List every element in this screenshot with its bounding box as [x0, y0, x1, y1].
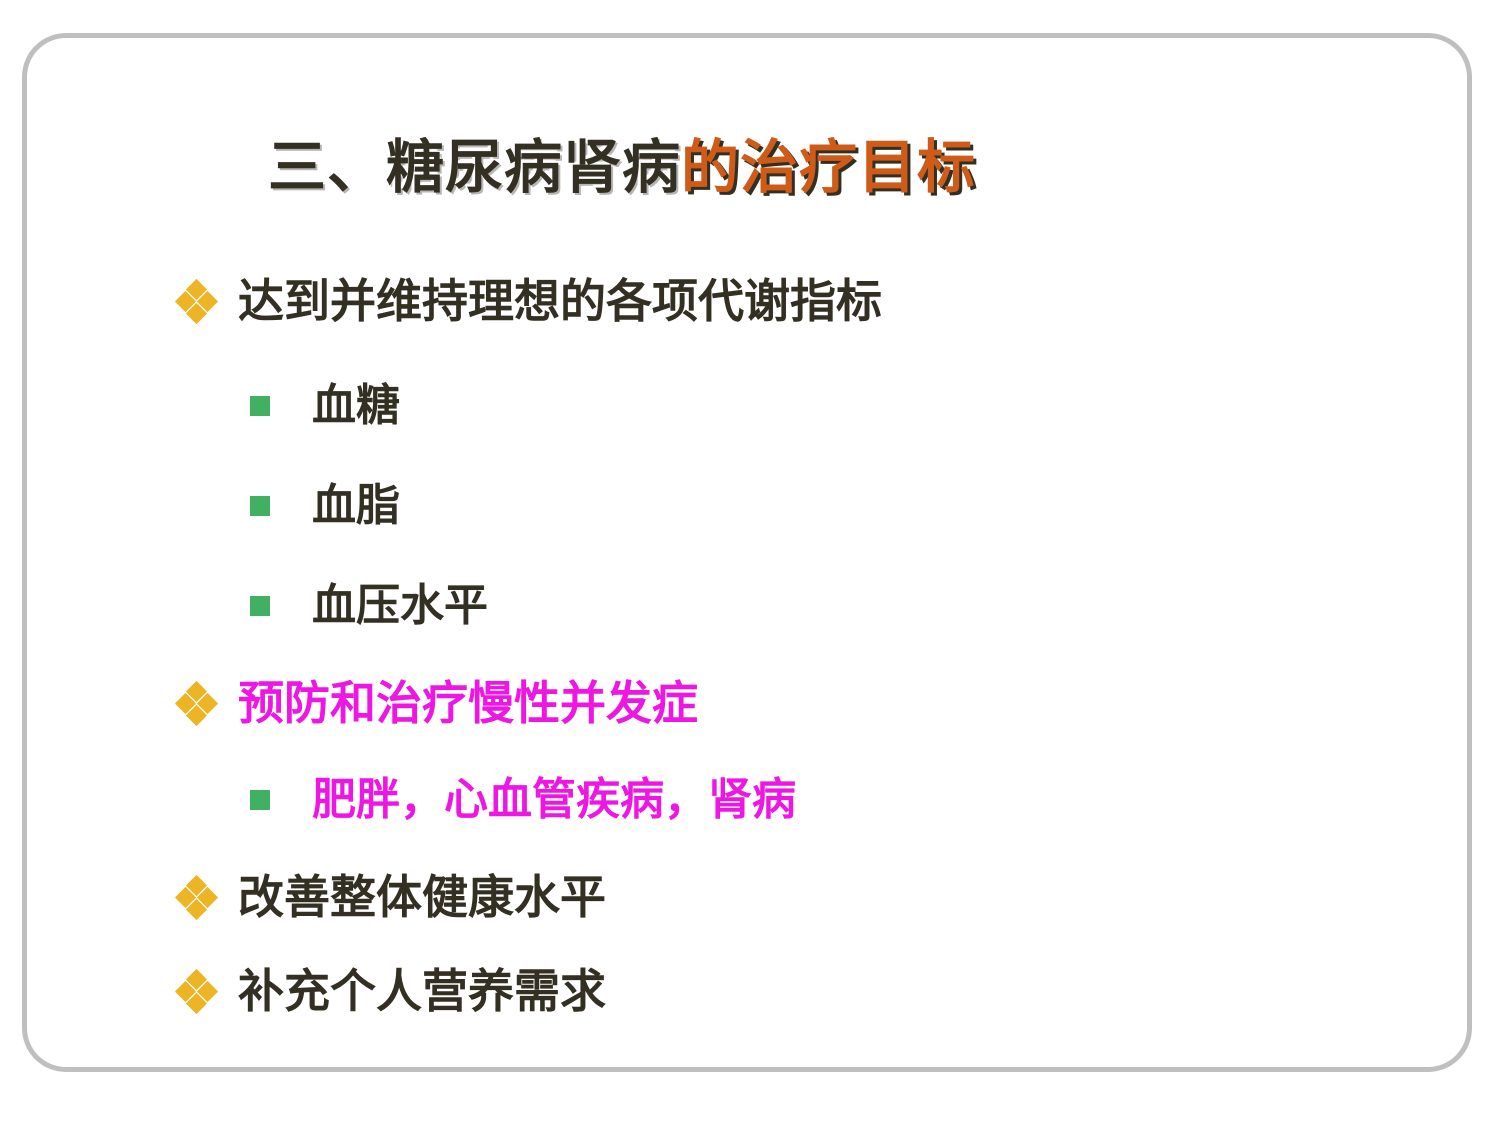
list-item-label: 预防和治疗慢性并发症	[238, 680, 698, 726]
slide: 三、糖尿病肾病的治疗目标 达到并维持理想的各项代谢指标 血糖 血脂 血压水平	[0, 0, 1500, 1125]
spacer	[178, 850, 1408, 858]
bullet-list: 达到并维持理想的各项代谢指标 血糖 血脂 血压水平 预防和治疗慢性并发症	[178, 262, 1408, 1030]
spacer	[178, 742, 1408, 750]
spacer	[178, 656, 1408, 664]
list-item: 改善整体健康水平	[178, 858, 1408, 936]
square-green-bullet-icon	[250, 790, 270, 810]
spacer	[178, 936, 1408, 952]
list-item-label: 血脂	[312, 484, 400, 528]
slide-title: 三、糖尿病肾病的治疗目标	[268, 132, 976, 204]
list-item-label: 补充个人营养需求	[238, 968, 606, 1014]
list-item: 血压水平	[178, 556, 1408, 656]
list-item: 肥胖，心血管疾病，肾病	[178, 750, 1408, 850]
list-item-label: 肥胖，心血管疾病，肾病	[312, 778, 796, 822]
list-item: 预防和治疗慢性并发症	[178, 664, 1408, 742]
square-green-bullet-icon	[250, 496, 270, 516]
square-green-bullet-icon	[250, 596, 270, 616]
list-item: 补充个人营养需求	[178, 952, 1408, 1030]
diamond-gold-bullet-icon	[178, 878, 216, 916]
list-item: 血糖	[178, 356, 1408, 456]
list-item: 达到并维持理想的各项代谢指标	[178, 262, 1408, 340]
diamond-gold-bullet-icon	[178, 282, 216, 320]
diamond-gold-bullet-icon	[178, 972, 216, 1010]
list-item-label: 改善整体健康水平	[238, 874, 606, 920]
square-green-bullet-icon	[250, 396, 270, 416]
page-title-prefix: 三、糖尿病肾病	[268, 132, 681, 204]
list-item-label: 血压水平	[312, 584, 488, 628]
list-item: 血脂	[178, 456, 1408, 556]
page-title-accent: 的治疗目标	[681, 132, 976, 204]
diamond-gold-bullet-icon	[178, 684, 216, 722]
list-item-label: 达到并维持理想的各项代谢指标	[238, 278, 882, 324]
spacer	[178, 340, 1408, 356]
list-item-label: 血糖	[312, 384, 400, 428]
